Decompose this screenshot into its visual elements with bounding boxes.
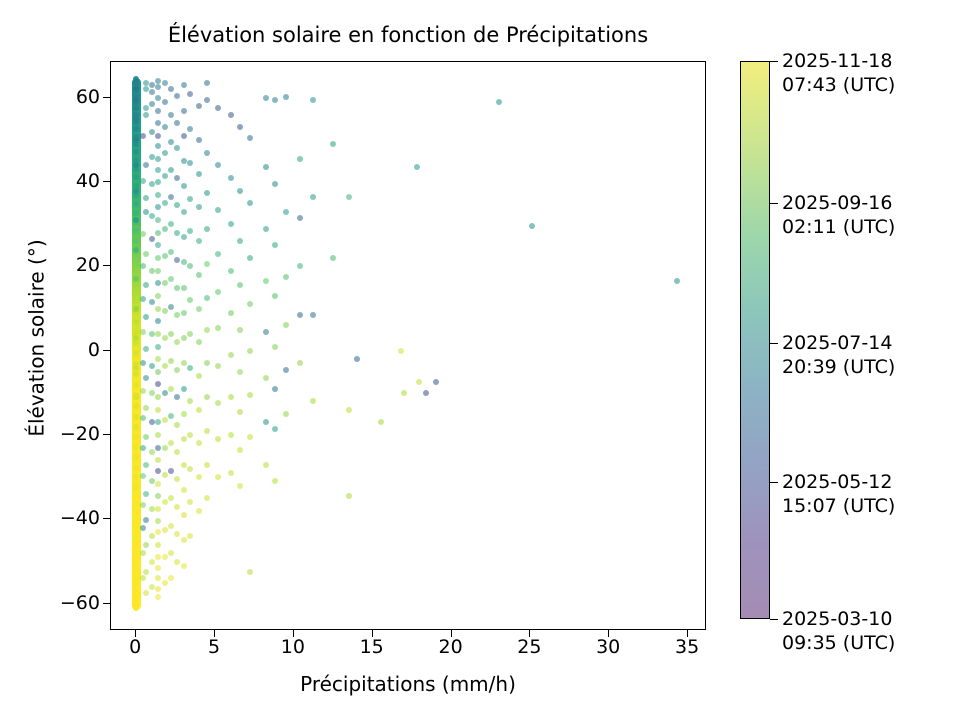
y-tick-mark: [103, 518, 110, 519]
scatter-point: [181, 108, 187, 114]
scatter-point: [263, 419, 269, 425]
scatter-point: [215, 207, 221, 213]
scatter-point: [204, 495, 210, 501]
colorbar-tick-labels: 2025-11-1807:43 (UTC)2025-09-1602:11 (UT…: [782, 61, 902, 619]
scatter-point: [228, 268, 234, 274]
scatter-point: [133, 594, 139, 600]
colorbar-tick-mark: [770, 61, 778, 62]
y-tick-mark: [103, 350, 110, 351]
scatter-point: [162, 226, 168, 232]
scatter-point: [237, 327, 243, 333]
scatter-point: [196, 137, 202, 143]
scatter-point: [196, 171, 202, 177]
scatter-point: [133, 210, 139, 216]
scatter-point: [133, 126, 139, 132]
scatter-point: [174, 312, 180, 318]
scatter-point: [155, 217, 161, 223]
scatter-point: [310, 97, 316, 103]
scatter-point: [162, 363, 168, 369]
scatter-point: [133, 97, 139, 103]
scatter-point: [228, 112, 234, 118]
x-tick-label: 10: [281, 636, 305, 658]
scatter-point: [204, 394, 210, 400]
scatter-point: [149, 129, 155, 135]
scatter-point: [272, 386, 278, 392]
scatter-point: [155, 242, 161, 248]
scatter-point: [162, 253, 168, 259]
scatter-point: [155, 493, 161, 499]
scatter-point: [196, 272, 202, 278]
scatter-point: [215, 436, 221, 442]
scatter-point: [181, 512, 187, 518]
scatter-point: [174, 202, 180, 208]
scatter-point: [149, 82, 155, 88]
scatter-point: [187, 398, 193, 404]
scatter-point: [162, 150, 168, 156]
scatter-point: [187, 432, 193, 438]
x-tick-label: 20: [439, 636, 463, 658]
y-axis-label: Élévation solaire (°): [25, 54, 49, 623]
colorbar-tick-time: 07:43 (UTC): [782, 73, 895, 97]
scatter-point: [283, 322, 289, 328]
scatter-point: [247, 200, 253, 206]
scatter-point: [133, 542, 139, 548]
scatter-point: [143, 405, 149, 411]
scatter-point: [162, 335, 168, 341]
scatter-point: [149, 363, 155, 369]
scatter-point: [263, 226, 269, 232]
scatter-point: [133, 444, 139, 450]
scatter-point: [155, 306, 161, 312]
scatter-point: [140, 445, 146, 451]
scatter-point: [155, 394, 161, 400]
scatter-point: [346, 493, 352, 499]
scatter-point: [143, 590, 149, 596]
scatter-point: [155, 575, 161, 581]
scatter-point: [174, 257, 180, 263]
scatter-point: [133, 503, 139, 509]
plot-area: [110, 61, 706, 630]
scatter-point: [215, 105, 221, 111]
scatter-point: [272, 478, 278, 484]
scatter-point: [168, 386, 174, 392]
scatter-point: [133, 605, 139, 611]
scatter-point: [133, 350, 139, 356]
scatter-point: [155, 432, 161, 438]
scatter-point: [149, 390, 155, 396]
scatter-point: [187, 533, 193, 539]
scatter-point: [181, 209, 187, 215]
scatter-point: [133, 247, 139, 253]
scatter-point: [237, 447, 243, 453]
scatter-point: [174, 449, 180, 455]
scatter-point: [133, 217, 139, 223]
scatter-point: [247, 348, 253, 354]
scatter-point: [140, 329, 146, 335]
scatter-point: [155, 192, 161, 198]
colorbar-tick-label: 2025-11-1807:43 (UTC): [782, 49, 895, 97]
scatter-point: [174, 367, 180, 373]
scatter-point: [168, 523, 174, 529]
scatter-point: [204, 226, 210, 232]
scatter-point: [237, 369, 243, 375]
scatter-point: [143, 162, 149, 168]
scatter-point: [133, 424, 139, 430]
scatter-point: [283, 94, 289, 100]
scatter-point: [423, 390, 429, 396]
scatter-point: [215, 251, 221, 257]
y-tick-mark: [103, 265, 110, 266]
scatter-point: [133, 371, 139, 377]
scatter-point: [228, 310, 234, 316]
scatter-point: [155, 156, 161, 162]
scatter-point: [168, 249, 174, 255]
scatter-point: [143, 375, 149, 381]
scatter-point: [133, 105, 139, 111]
scatter-point: [204, 150, 210, 156]
scatter-point: [133, 512, 139, 518]
scatter-point: [401, 390, 407, 396]
scatter-point: [196, 440, 202, 446]
scatter-point: [237, 238, 243, 244]
colorbar-gradient: [740, 61, 770, 619]
scatter-point: [140, 263, 146, 269]
x-tick-label: 35: [675, 636, 699, 658]
scatter-point: [181, 183, 187, 189]
y-tick-label: 60: [76, 86, 100, 108]
scatter-point: [283, 411, 289, 417]
scatter-point: [181, 537, 187, 543]
scatter-point: [133, 258, 139, 264]
scatter-point: [140, 550, 146, 556]
scatter-point: [155, 293, 161, 299]
y-tick-label: −60: [60, 592, 100, 614]
scatter-point: [155, 167, 161, 173]
scatter-point: [155, 506, 161, 512]
scatter-point: [354, 356, 360, 362]
y-tick-mark: [103, 97, 110, 98]
scatter-point: [196, 407, 202, 413]
scatter-point: [181, 259, 187, 265]
scatter-point: [174, 476, 180, 482]
scatter-point: [263, 375, 269, 381]
scatter-point: [143, 112, 149, 118]
scatter-point: [196, 306, 202, 312]
scatter-point: [133, 162, 139, 168]
scatter-point: [174, 394, 180, 400]
scatter-point: [143, 282, 149, 288]
scatter-point: [162, 472, 168, 478]
scatter-point: [174, 145, 180, 151]
scatter-point: [133, 414, 139, 420]
scatter-point: [228, 394, 234, 400]
scatter-point: [133, 474, 139, 480]
scatter-point: [162, 124, 168, 130]
colorbar-tick-date: 2025-03-10: [782, 607, 895, 631]
x-axis-tick-labels: 05101520253035: [110, 636, 706, 666]
scatter-point: [237, 124, 243, 130]
y-tick-mark: [103, 181, 110, 182]
scatter-point: [174, 120, 180, 126]
scatter-point: [162, 445, 168, 451]
scatter-point: [204, 80, 210, 86]
scatter-point: [143, 569, 149, 575]
scatter-point: [140, 133, 146, 139]
scatter-point: [181, 487, 187, 493]
scatter-point: [149, 268, 155, 274]
scatter-point: [263, 95, 269, 101]
scatter-point: [168, 550, 174, 556]
scatter-point: [155, 407, 161, 413]
scatter-point: [143, 314, 149, 320]
scatter-point: [174, 285, 180, 291]
scatter-point: [204, 261, 210, 267]
y-tick-label: −20: [60, 423, 100, 445]
scatter-point: [204, 97, 210, 103]
scatter-point: [263, 462, 269, 468]
scatter-point: [187, 297, 193, 303]
scatter-point: [162, 99, 168, 105]
scatter-point: [155, 419, 161, 425]
scatter-point: [272, 97, 278, 103]
scatter-point: [133, 174, 139, 180]
scatter-point: [133, 86, 139, 92]
scatter-point: [204, 327, 210, 333]
y-tick-mark: [103, 603, 110, 604]
scatter-point: [247, 135, 253, 141]
colorbar-tick-date: 2025-11-18: [782, 49, 895, 73]
scatter-point: [155, 230, 161, 236]
scatter-point: [181, 234, 187, 240]
scatter-point: [168, 413, 174, 419]
scatter-point: [297, 263, 303, 269]
scatter-point: [162, 554, 168, 560]
scatter-point: [162, 200, 168, 206]
scatter-point: [133, 306, 139, 312]
scatter-point: [174, 93, 180, 99]
scatter-point: [187, 331, 193, 337]
scatter-point: [143, 346, 149, 352]
scatter-point: [133, 434, 139, 440]
scatter-point: [181, 335, 187, 341]
scatter-point: [187, 126, 193, 132]
colorbar-tick-label: 2025-05-1215:07 (UTC): [782, 470, 895, 518]
scatter-point: [247, 255, 253, 261]
scatter-point: [297, 215, 303, 221]
scatter-point: [187, 466, 193, 472]
scatter-point: [310, 398, 316, 404]
scatter-point: [168, 86, 174, 92]
scatter-point: [181, 310, 187, 316]
scatter-point: [416, 379, 422, 385]
scatter-point: [263, 278, 269, 284]
scatter-point: [181, 82, 187, 88]
scatter-point: [133, 149, 139, 155]
scatter-point: [215, 400, 221, 406]
scatter-point: [155, 369, 161, 375]
y-axis-tick-marks: [103, 61, 110, 630]
chart-figure: Élévation solaire en fonction de Précipi…: [0, 0, 960, 720]
scatter-point: [168, 495, 174, 501]
scatter-point: [149, 449, 155, 455]
scatter-point: [237, 188, 243, 194]
scatter-point: [283, 274, 289, 280]
scatter-point: [133, 365, 139, 371]
y-tick-label: 0: [88, 339, 100, 361]
scatter-point: [196, 339, 202, 345]
scatter-point: [155, 518, 161, 524]
scatter-point: [330, 255, 336, 261]
scatter-point: [155, 542, 161, 548]
scatter-point: [174, 339, 180, 345]
scatter-point: [143, 434, 149, 440]
scatter-point: [215, 474, 221, 480]
scatter-point: [140, 231, 146, 237]
scatter-point: [143, 517, 149, 523]
scatter-point: [174, 504, 180, 510]
scatter-point: [228, 352, 234, 358]
scatter-point: [140, 415, 146, 421]
scatter-point: [133, 335, 139, 341]
scatter-point: [133, 319, 139, 325]
scatter-point: [133, 403, 139, 409]
scatter-point: [228, 175, 234, 181]
scatter-point: [168, 167, 174, 173]
scatter-point: [149, 299, 155, 305]
scatter-point: [247, 434, 253, 440]
scatter-point: [149, 101, 155, 107]
scatter-point: [162, 173, 168, 179]
scatter-point: [181, 462, 187, 468]
scatter-point: [162, 417, 168, 423]
scatter-point: [149, 89, 155, 95]
scatter-point: [143, 251, 149, 257]
scatter-point: [204, 428, 210, 434]
scatter-point: [149, 154, 155, 160]
scatter-point: [215, 363, 221, 369]
scatter-point: [247, 392, 253, 398]
scatter-point: [187, 160, 193, 166]
scatter-point: [181, 436, 187, 442]
y-tick-label: 40: [76, 170, 100, 192]
colorbar-tick-mark: [770, 619, 778, 620]
scatter-point: [133, 188, 139, 194]
scatter-point: [133, 79, 139, 85]
scatter-point: [133, 453, 139, 459]
colorbar-tick-label: 2025-03-1009:35 (UTC): [782, 607, 895, 655]
colorbar-tick-time: 02:11 (UTC): [782, 215, 895, 239]
scatter-point: [155, 204, 161, 210]
colorbar-tick-mark: [770, 203, 778, 204]
y-tick-mark: [103, 434, 110, 435]
scatter-point: [181, 158, 187, 164]
scatter-point: [155, 331, 161, 337]
scatter-point: [310, 312, 316, 318]
scatter-point: [204, 190, 210, 196]
colorbar-tick-time: 09:35 (UTC): [782, 631, 895, 655]
chart-title: Élévation solaire en fonction de Précipi…: [110, 22, 706, 48]
scatter-point: [346, 407, 352, 413]
scatter-point: [310, 194, 316, 200]
scatter-point: [133, 465, 139, 471]
scatter-point: [143, 209, 149, 215]
scatter-point: [196, 238, 202, 244]
scatter-point: [181, 411, 187, 417]
scatter-point: [133, 268, 139, 274]
scatter-point: [204, 295, 210, 301]
scatter-point: [155, 344, 161, 350]
scatter-point: [155, 445, 161, 451]
scatter-point: [155, 565, 161, 571]
scatter-point: [196, 474, 202, 480]
scatter-point: [297, 156, 303, 162]
colorbar-tick-date: 2025-07-14: [782, 331, 895, 355]
scatter-point: [149, 559, 155, 565]
scatter-point: [149, 533, 155, 539]
scatter-point: [155, 586, 161, 592]
scatter-point: [187, 196, 193, 202]
scatter-point: [414, 164, 420, 170]
scatter-point: [133, 288, 139, 294]
scatter-point: [155, 594, 161, 600]
scatter-point: [283, 367, 289, 373]
scatter-point: [155, 468, 161, 474]
scatter-point: [168, 112, 174, 118]
scatter-point: [143, 195, 149, 201]
scatter-point: [133, 483, 139, 489]
scatter-point: [149, 236, 155, 242]
scatter-point: [133, 276, 139, 282]
scatter-point: [155, 457, 161, 463]
scatter-point: [174, 422, 180, 428]
scatter-point: [263, 329, 269, 335]
scatter-point: [133, 238, 139, 244]
scatter-point: [237, 483, 243, 489]
scatter-point: [272, 293, 278, 299]
scatter-point: [155, 84, 161, 90]
colorbar-tick-label: 2025-09-1602:11 (UTC): [782, 191, 895, 239]
scatter-point: [155, 268, 161, 274]
scatter-point: [155, 280, 161, 286]
x-tick-label: 5: [208, 636, 220, 658]
scatter-point: [155, 554, 161, 560]
scatter-point: [155, 108, 161, 114]
scatter-point: [133, 228, 139, 234]
x-tick-label: 25: [517, 636, 541, 658]
scatter-point: [155, 179, 161, 185]
scatter-point: [140, 473, 146, 479]
scatter-point: [162, 280, 168, 286]
scatter-point: [398, 348, 404, 354]
scatter-point: [228, 221, 234, 227]
scatter-point: [237, 409, 243, 415]
scatter-point: [149, 584, 155, 590]
scatter-point: [143, 86, 149, 92]
scatter-point: [155, 120, 161, 126]
scatter-point: [204, 360, 210, 366]
scatter-point: [174, 175, 180, 181]
scatter-point: [149, 331, 155, 337]
scatter-point: [155, 78, 161, 84]
scatter-point: [674, 278, 680, 284]
scatter-point: [133, 554, 139, 560]
scatter-point: [133, 571, 139, 577]
scatter-points-layer: [111, 62, 705, 629]
scatter-point: [187, 365, 193, 371]
y-axis-tick-labels: −60−40−200204060: [0, 61, 100, 630]
scatter-point: [140, 575, 146, 581]
scatter-point: [272, 242, 278, 248]
